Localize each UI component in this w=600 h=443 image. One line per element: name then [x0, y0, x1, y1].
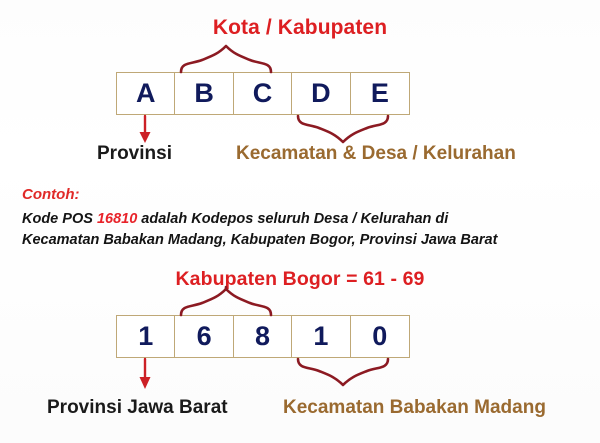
label-provinsi: Provinsi [97, 143, 172, 165]
letter-cell-c: C [234, 73, 292, 114]
letter-cell-a: A [117, 73, 175, 114]
digit-cell-4: 1 [292, 316, 350, 357]
down-arrow-icon [140, 359, 151, 389]
postal-code-diagram: Kota / Kabupaten A B C D E Provinsi Keca… [0, 0, 600, 443]
letter-cell-b: B [175, 73, 233, 114]
letter-cell-e: E [351, 73, 409, 114]
example-title: Contoh: [22, 186, 79, 203]
example-line1-after: adalah Kodepos seluruh Desa / Kelurahan … [137, 211, 448, 227]
letter-box-row: A B C D E [116, 72, 410, 115]
example-line-2: Kecamatan Babakan Madang, Kabupaten Bogo… [22, 232, 497, 248]
example-postal-code: 16810 [97, 211, 137, 227]
example-line-1: Kode POS 16810 adalah Kodepos seluruh De… [22, 211, 448, 227]
letter-cell-d: D [292, 73, 350, 114]
digit-cell-2: 6 [175, 316, 233, 357]
label-kecamatan-babakan-madang: Kecamatan Babakan Madang [283, 397, 546, 419]
digit-cell-5: 0 [351, 316, 409, 357]
down-arrow-icon [140, 116, 151, 143]
label-provinsi-jawa-barat: Provinsi Jawa Barat [47, 397, 228, 419]
bottom-heading-kabupaten-bogor: Kabupaten Bogor = 61 - 69 [0, 268, 600, 291]
digit-box-row: 1 6 8 1 0 [116, 315, 410, 358]
digit-cell-1: 1 [117, 316, 175, 357]
top-heading-kota-kabupaten: Kota / Kabupaten [0, 16, 600, 40]
digit-cell-3: 8 [234, 316, 292, 357]
example-line1-before: Kode POS [22, 211, 97, 227]
label-kecamatan-desa-kelurahan: Kecamatan & Desa / Kelurahan [236, 143, 516, 165]
curly-brace-down-icon [298, 359, 388, 400]
